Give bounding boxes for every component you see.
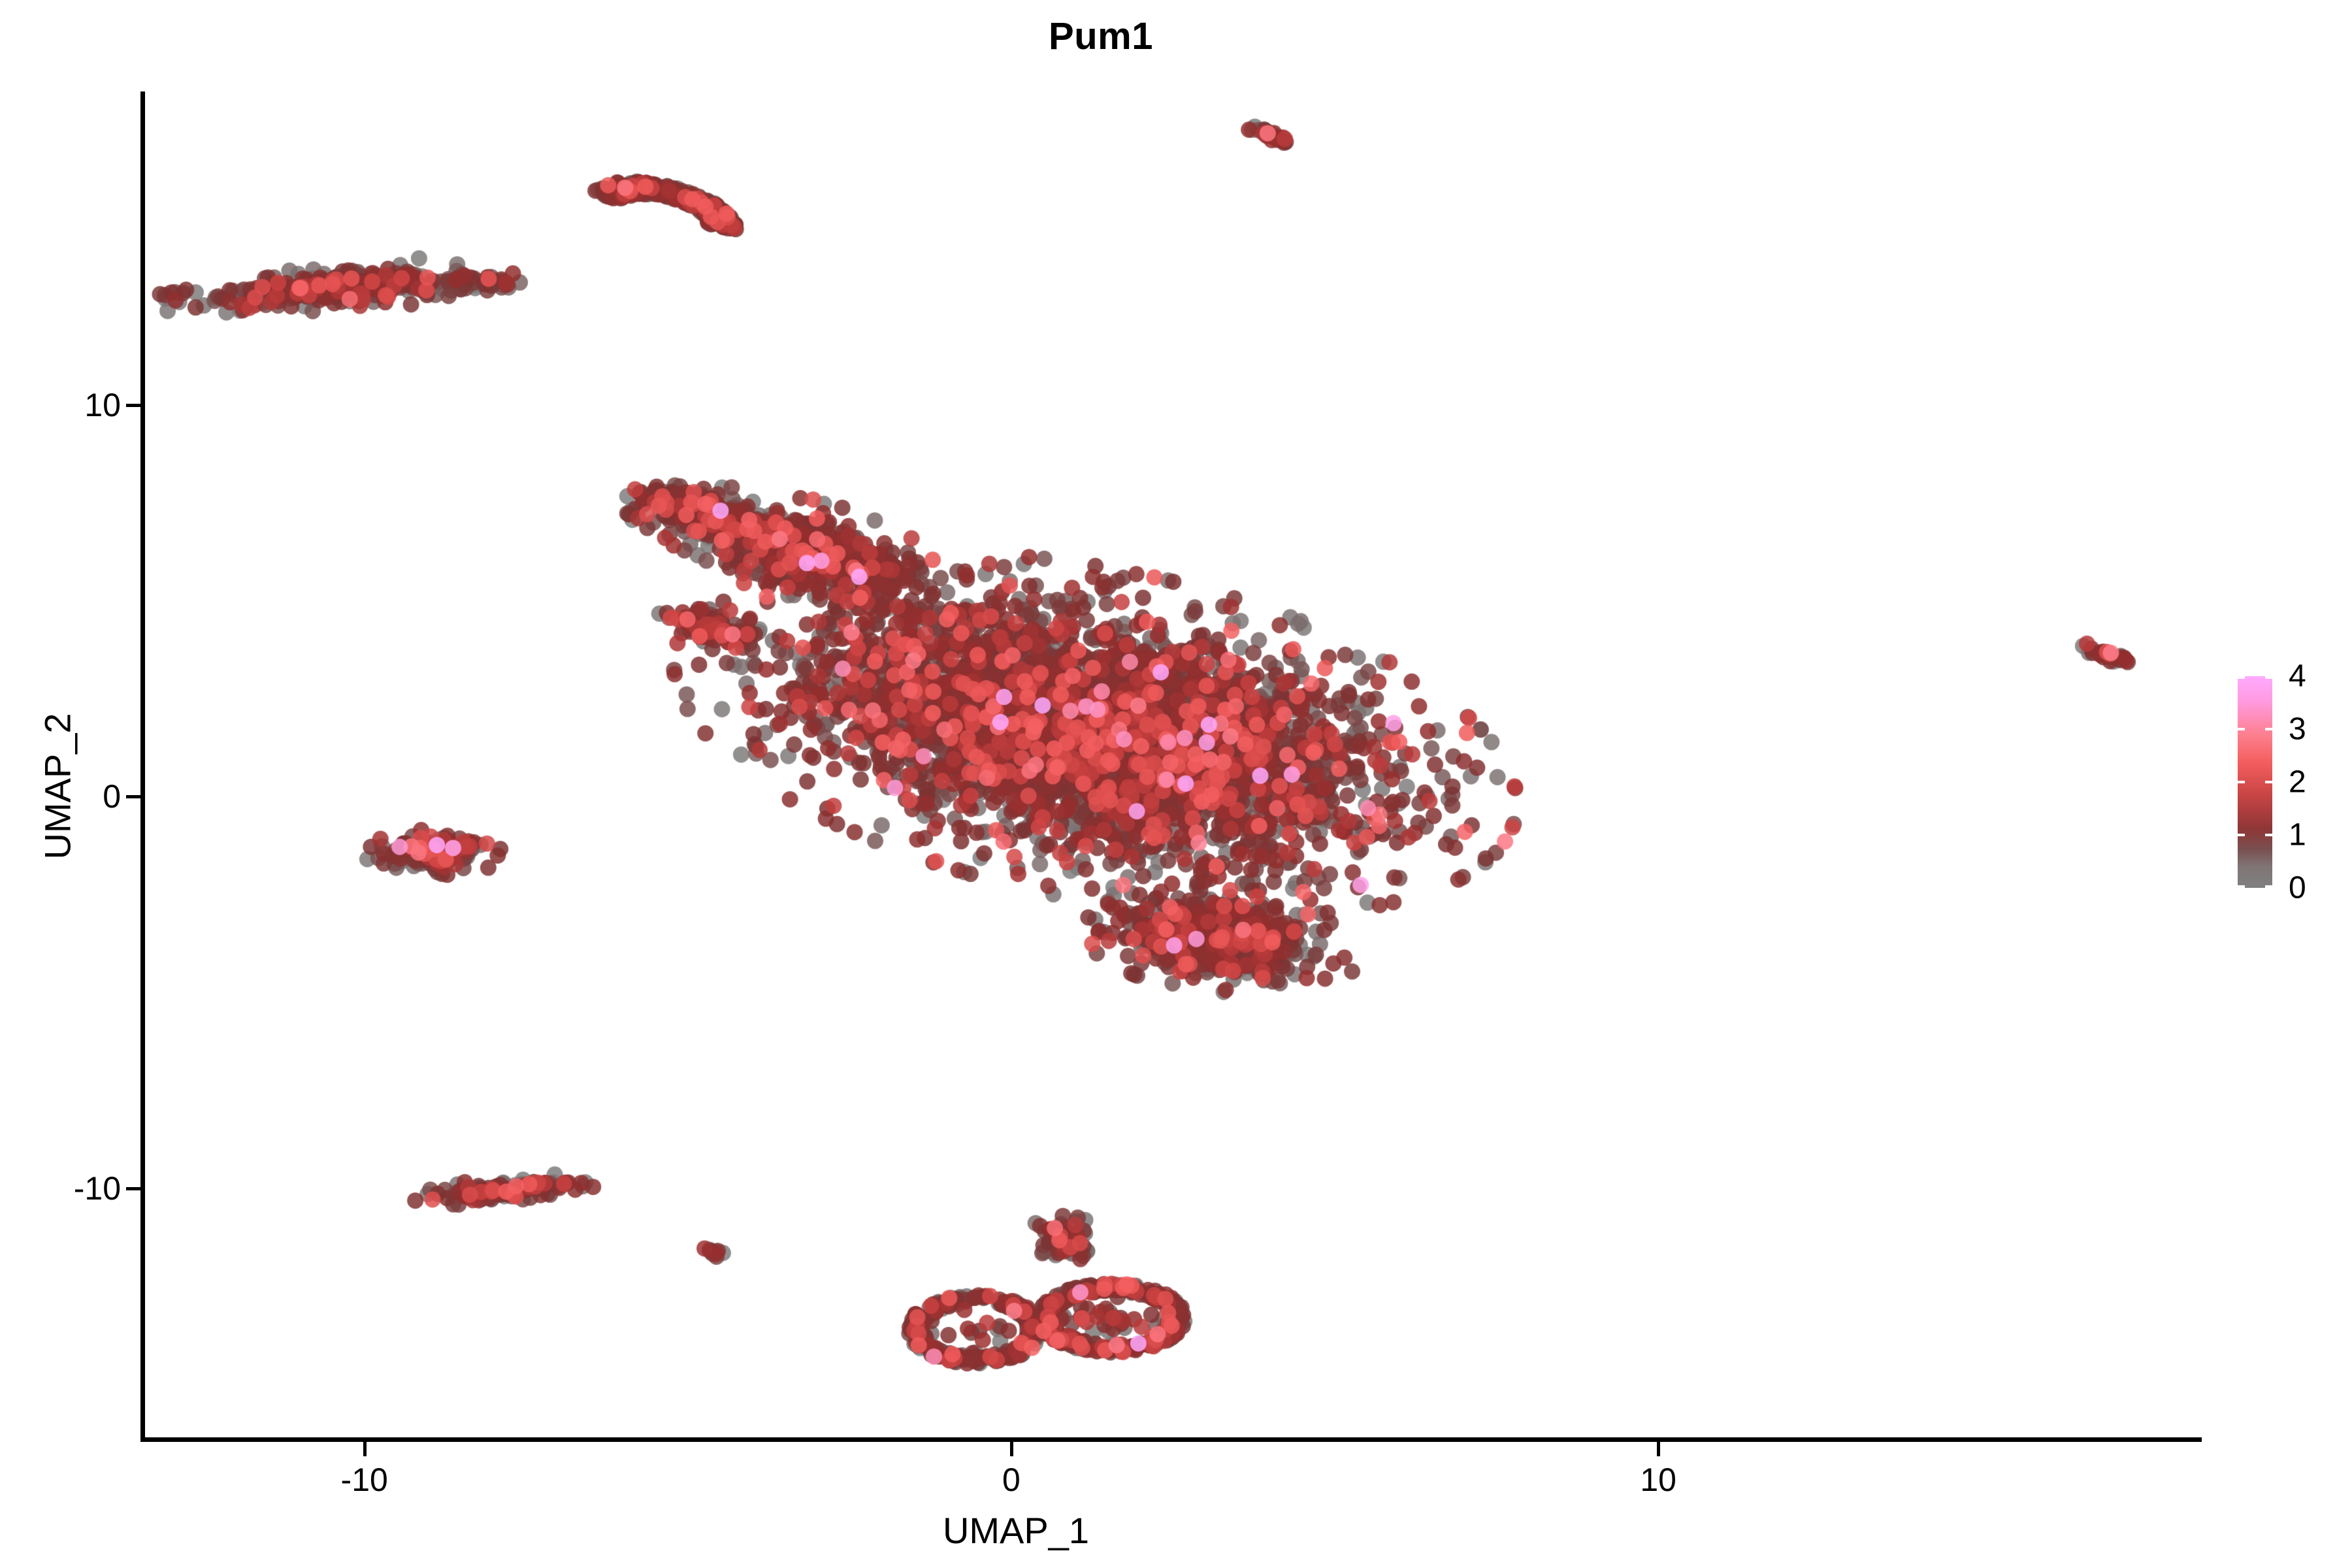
legend-tick (2238, 834, 2245, 836)
legend-label: 4 (2289, 659, 2306, 694)
y-tick-label: -10 (74, 1169, 121, 1207)
page-title: Pum1 (0, 14, 2202, 58)
legend-tick (2265, 834, 2272, 836)
x-tick-label: 10 (1640, 1461, 1676, 1499)
y-axis-title: UMAP_2 (37, 604, 79, 970)
y-tick-label: 0 (103, 777, 121, 815)
y-axis-line (140, 91, 145, 1441)
legend-label: 1 (2289, 817, 2306, 853)
legend-tick (2265, 885, 2272, 888)
y-tick-mark (126, 404, 140, 407)
umap-feature-plot: Pum1 100-10 -10010 UMAP_2 UMAP_1 43210 (0, 0, 2352, 1568)
legend-tick (2238, 885, 2245, 888)
x-tick-label: 0 (1002, 1461, 1021, 1499)
x-axis-title: UMAP_1 (849, 1509, 1183, 1552)
x-tick-mark (363, 1442, 367, 1456)
x-tick-mark (1657, 1442, 1660, 1456)
y-tick-mark (126, 1187, 140, 1190)
x-axis-line (140, 1437, 2202, 1442)
legend-tick (2265, 781, 2272, 783)
x-tick-label: -10 (341, 1461, 388, 1499)
legend-label: 3 (2289, 711, 2306, 747)
y-tick-label: 10 (84, 386, 121, 424)
legend-tick (2265, 728, 2272, 730)
legend-tick (2238, 728, 2245, 730)
legend-tick (2265, 676, 2272, 679)
plot-panel (144, 91, 2202, 1439)
legend-tick (2238, 676, 2245, 679)
legend-label: 2 (2289, 764, 2306, 800)
color-legend: 43210 (2238, 676, 2336, 898)
legend-tick (2238, 781, 2245, 783)
legend-label: 0 (2289, 870, 2306, 906)
scatter-plot-canvas (144, 91, 2202, 1439)
x-tick-mark (1010, 1442, 1013, 1456)
y-tick-mark (126, 795, 140, 798)
